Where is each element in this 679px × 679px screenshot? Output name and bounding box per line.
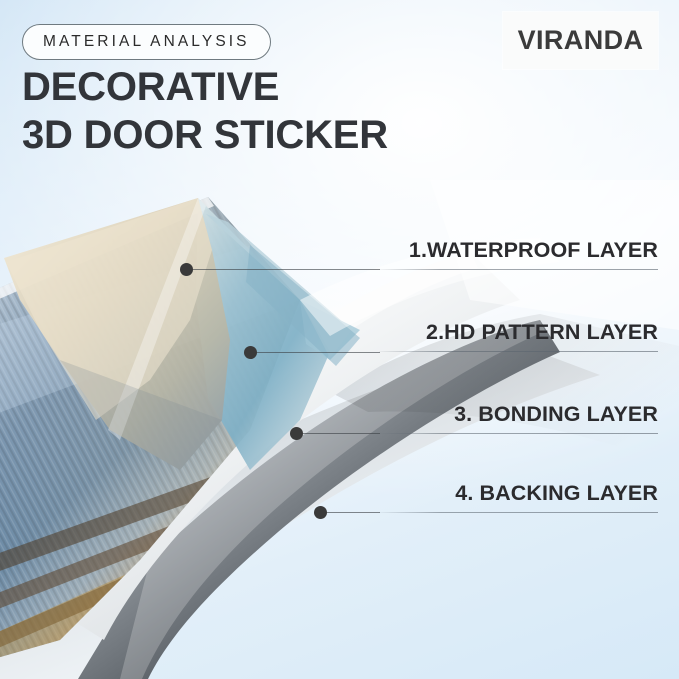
brand-logo: VIRANDA bbox=[503, 12, 658, 69]
callout-hd-pattern-layer: 2.HD PATTERN LAYER bbox=[379, 320, 658, 352]
callout-label-1: 1.WATERPROOF LAYER bbox=[409, 238, 658, 263]
callout-rule-1 bbox=[379, 269, 658, 270]
callout-waterproof-layer: 1.WATERPROOF LAYER bbox=[379, 238, 658, 270]
callout-dot-2 bbox=[244, 346, 257, 359]
callout-leader-1 bbox=[192, 269, 380, 270]
callout-label-4: 4. BACKING LAYER bbox=[455, 481, 658, 506]
page-title-line-1: DECORATIVE bbox=[22, 65, 279, 109]
brand-logo-text: VIRANDA bbox=[518, 25, 644, 56]
callout-leader-4 bbox=[326, 512, 380, 513]
poster-canvas: MATERIAL ANALYSIS DECORATIVE 3D DOOR STI… bbox=[0, 0, 679, 679]
callout-dot-4 bbox=[314, 506, 327, 519]
page-title: DECORATIVE 3D DOOR STICKER bbox=[22, 66, 388, 157]
callout-rule-3 bbox=[379, 433, 658, 434]
callout-dot-1 bbox=[180, 263, 193, 276]
callout-rule-2 bbox=[379, 351, 658, 352]
callout-label-2: 2.HD PATTERN LAYER bbox=[426, 320, 658, 345]
callout-label-3: 3. BONDING LAYER bbox=[454, 402, 658, 427]
page-title-line-2: 3D DOOR STICKER bbox=[22, 114, 388, 157]
callout-leader-3 bbox=[302, 433, 380, 434]
callout-backing-layer: 4. BACKING LAYER bbox=[379, 481, 658, 513]
badge-material-analysis: MATERIAL ANALYSIS bbox=[22, 24, 271, 60]
callout-rule-4 bbox=[379, 512, 658, 513]
callout-bonding-layer: 3. BONDING LAYER bbox=[379, 402, 658, 434]
callout-dot-3 bbox=[290, 427, 303, 440]
callout-leader-2 bbox=[256, 352, 380, 353]
